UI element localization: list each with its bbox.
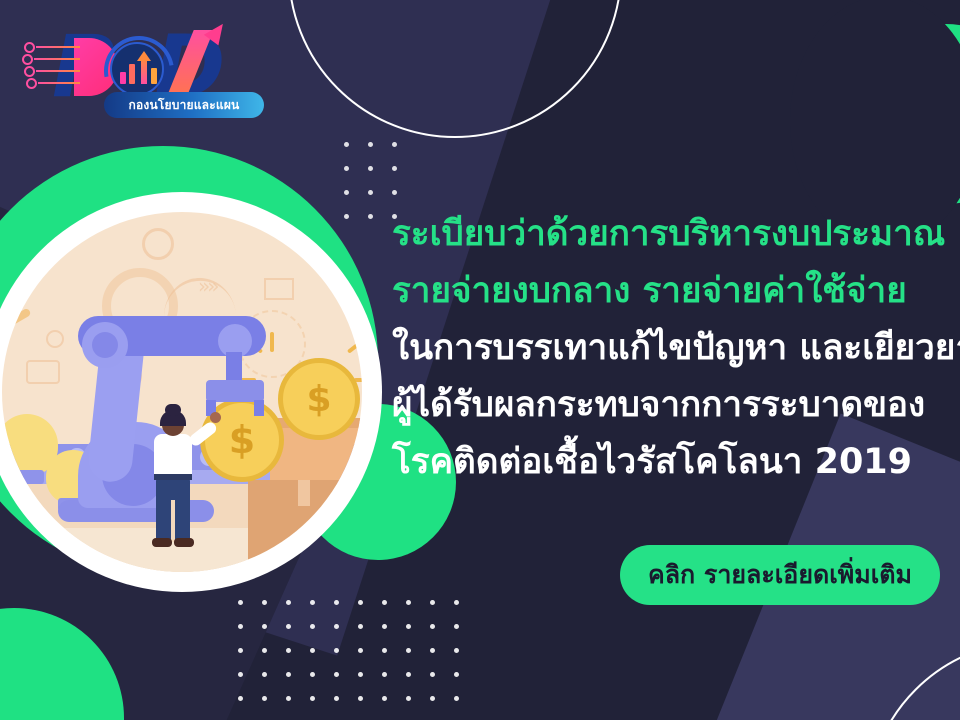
- headline-line-1: ระเบียบว่าด้วยการบริหารงบประมาณ: [392, 206, 952, 263]
- person-torso: [154, 434, 192, 478]
- light-bulb-base: [10, 470, 44, 484]
- person-shoe: [152, 538, 172, 547]
- coin-symbol: $: [306, 379, 331, 420]
- person-hand: [210, 412, 221, 423]
- envelope-deco-icon: [264, 278, 294, 300]
- logo-ribbon-label: กองนโยบายและแผน: [129, 96, 240, 115]
- stripe-deco: [2, 308, 32, 333]
- decorative-ring-top-icon: [288, 0, 622, 138]
- gold-coin-icon: $: [278, 358, 360, 440]
- pdd-logo[interactable]: P D กองนโยบายและแผน: [18, 16, 276, 122]
- pie-chart-deco-icon: [142, 228, 174, 260]
- chevrons-deco-icon: »»: [198, 274, 216, 298]
- person-hair-bun: [165, 404, 181, 416]
- coin-symbol: $: [229, 418, 255, 462]
- headline-line-3: ในการบรรเทาแก้ไขปัญหา และเยียวยา: [392, 320, 952, 377]
- headline-line-2: รายจ่ายงบกลาง รายจ่ายค่าใช้จ่าย: [392, 263, 952, 320]
- circuit-lines-icon: [24, 42, 82, 92]
- small-ring-deco: [46, 330, 64, 348]
- illustration-scene: »»: [2, 212, 362, 572]
- bar-chart-arrow-icon: [110, 42, 164, 96]
- illustration-circle: »»: [0, 192, 382, 592]
- poster-canvas: »»: [0, 0, 960, 720]
- robot-arm-pivot-inner: [92, 332, 118, 358]
- green-blob-bottom-left: [0, 608, 124, 720]
- more-details-button[interactable]: คลิก รายละเอียดเพิ่มเติม: [620, 545, 940, 605]
- robot-arm-wrist: [226, 352, 242, 382]
- box-tape: [298, 480, 310, 506]
- green-crescent-top-right: [856, 24, 960, 204]
- person-shoe: [174, 538, 194, 547]
- person-leg-gap: [171, 500, 175, 542]
- dot-grid-bottom: [238, 600, 478, 720]
- headline-line-5: โรคติดต่อเชื้อไวรัสโคโลนา 2019: [392, 434, 952, 491]
- person-belt: [154, 474, 192, 480]
- decorative-ring-bottom-icon: [866, 640, 960, 720]
- gripper-claw: [254, 400, 264, 416]
- logo-ribbon: กองนโยบายและแผน: [104, 92, 264, 118]
- headline-block: ระเบียบว่าด้วยการบริหารงบประมาณ รายจ่ายง…: [392, 206, 952, 491]
- headline-line-4: ผู้ได้รับผลกระทบจากการระบาดของ: [392, 377, 952, 434]
- chat-bubble-deco-icon: [26, 360, 60, 384]
- robot-arm-gripper: [206, 380, 264, 402]
